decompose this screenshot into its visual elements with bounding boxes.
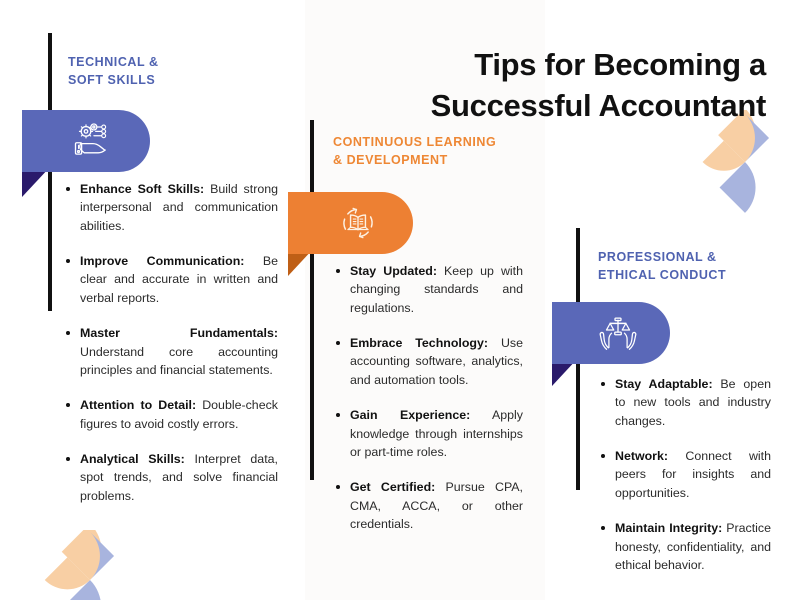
list-item-text: Understand core accounting principles an… xyxy=(80,345,278,377)
list-item: Network: Connect with peers for insights… xyxy=(598,447,771,502)
list-item: Gain Experience: Apply knowledge through… xyxy=(333,406,523,461)
list-item-lead: Stay Adaptable: xyxy=(615,377,713,391)
list-item: Stay Updated: Keep up with changing stan… xyxy=(333,262,523,317)
book-refresh-cycle-icon xyxy=(337,202,379,244)
column-header-3-line-2: ETHICAL CONDUCT xyxy=(598,266,800,284)
column-header-1: TECHNICAL & SOFT SKILLS xyxy=(68,53,268,89)
column-divider-2 xyxy=(310,120,314,480)
column-header-2-line-2: & DEVELOPMENT xyxy=(333,151,548,169)
bullet-list-3: Stay Adaptable: Be open to new tools and… xyxy=(598,375,771,574)
ribbon-badge-3 xyxy=(552,302,670,364)
hands-holding-scales-icon xyxy=(597,312,639,354)
ribbon-badge-1 xyxy=(22,110,150,172)
list-item-lead: Gain Experience: xyxy=(350,408,470,422)
list-item: Attention to Detail: Double-check figure… xyxy=(63,396,278,433)
column-header-3-line-1: PROFESSIONAL & xyxy=(598,248,800,266)
column-header-2-line-1: CONTINUOUS LEARNING xyxy=(333,133,548,151)
list-item: Enhance Soft Skills: Build strong interp… xyxy=(63,180,278,235)
list-item: Get Certified: Pursue CPA, CMA, ACCA, or… xyxy=(333,478,523,533)
list-item-lead: Analytical Skills: xyxy=(80,452,185,466)
list-item-lead: Attention to Detail: xyxy=(80,398,196,412)
list-item-lead: Master Fundamentals: xyxy=(80,326,278,340)
gears-in-hand-icon xyxy=(72,120,114,162)
list-item: Improve Communication: Be clear and accu… xyxy=(63,252,278,307)
list-item-lead: Network: xyxy=(615,449,668,463)
list-item-lead: Get Certified: xyxy=(350,480,435,494)
list-item-lead: Stay Updated: xyxy=(350,264,437,278)
list-item-lead: Improve Communication: xyxy=(80,254,244,268)
column-header-1-line-1: TECHNICAL & xyxy=(68,53,268,71)
list-item-lead: Embrace Technology: xyxy=(350,336,488,350)
list-item: Analytical Skills: Interpret data, spot … xyxy=(63,450,278,505)
list-item: Stay Adaptable: Be open to new tools and… xyxy=(598,375,771,430)
list-item: Embrace Technology: Use accounting softw… xyxy=(333,334,523,389)
list-item: Maintain Integrity: Practice honesty, co… xyxy=(598,519,771,574)
list-item-lead: Maintain Integrity: xyxy=(615,521,722,535)
pinwheel-icon xyxy=(28,530,153,600)
ribbon-badge-2 xyxy=(288,192,413,254)
list-item-lead: Enhance Soft Skills: xyxy=(80,182,204,196)
column-header-3: PROFESSIONAL & ETHICAL CONDUCT xyxy=(598,248,800,284)
list-item: Master Fundamentals: Understand core acc… xyxy=(63,324,278,379)
page-title: Tips for Becoming a Successful Accountan… xyxy=(346,45,766,127)
column-header-1-line-2: SOFT SKILLS xyxy=(68,71,268,89)
bullet-list-2: Stay Updated: Keep up with changing stan… xyxy=(333,262,523,533)
pinwheel-decoration-bottom-left xyxy=(28,530,153,600)
bullet-list-1: Enhance Soft Skills: Build strong interp… xyxy=(63,180,278,505)
column-header-2: CONTINUOUS LEARNING & DEVELOPMENT xyxy=(333,133,548,169)
